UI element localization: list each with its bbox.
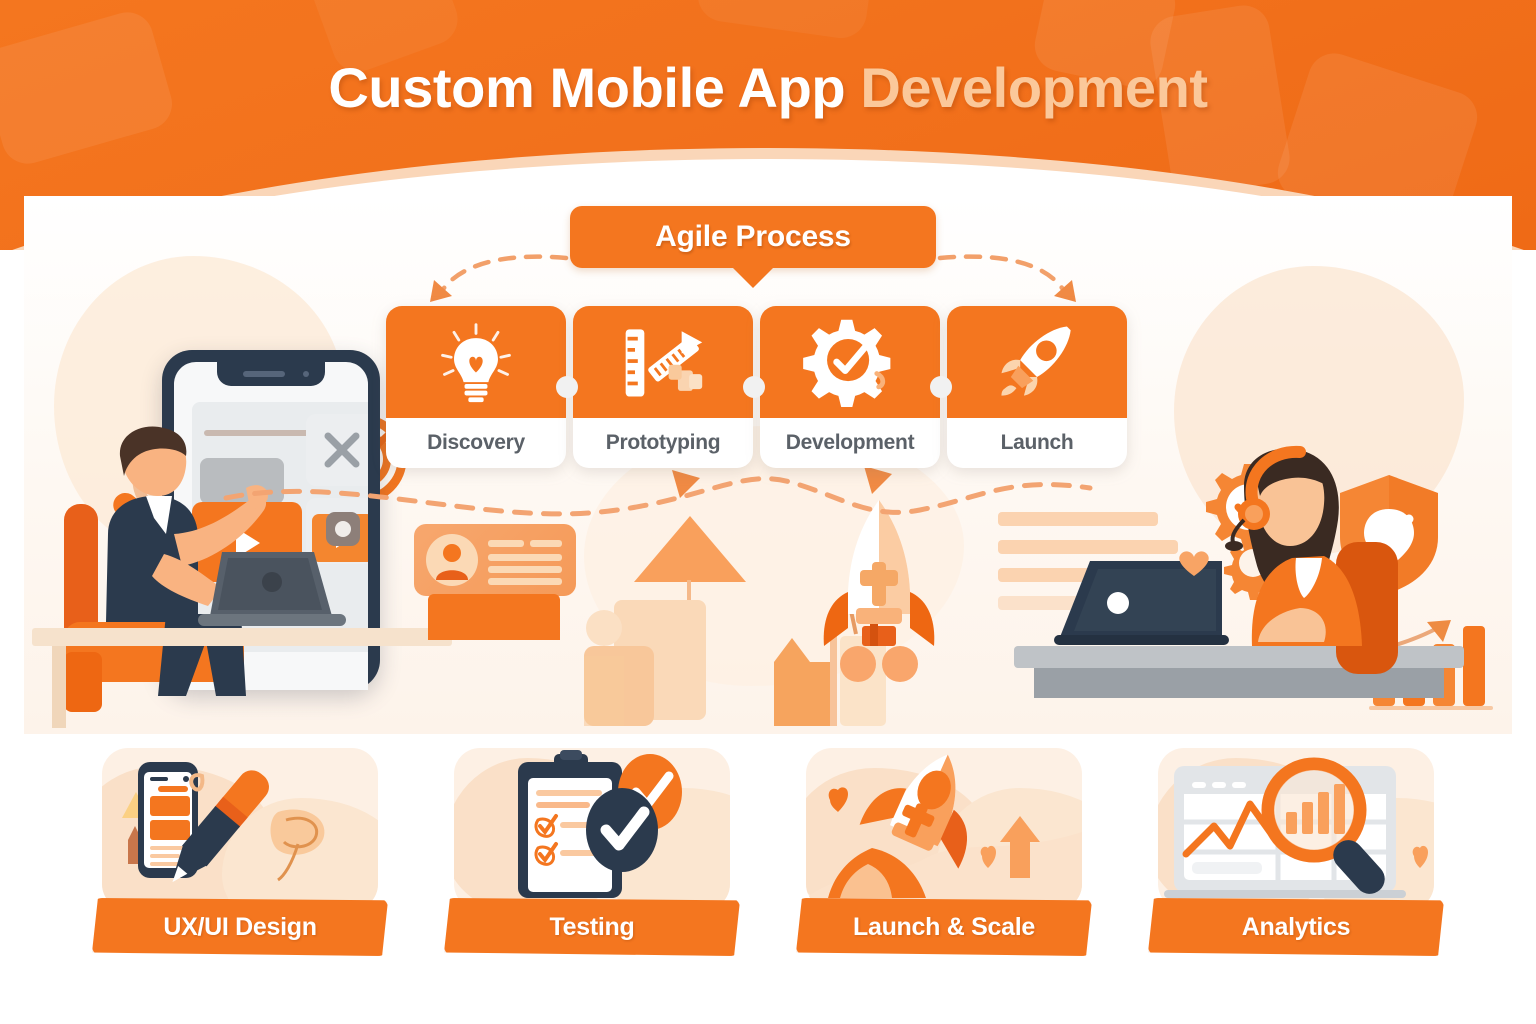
phone-speaker <box>243 371 285 377</box>
infographic-canvas: Custom Mobile App Development <box>0 0 1536 1024</box>
process-card-prototyping[interactable]: Prototyping <box>573 306 753 468</box>
rocket-icon <box>947 314 1127 410</box>
card-label-area: Launch <box>947 418 1127 468</box>
doc-text-line <box>998 512 1158 526</box>
process-card-label: Development <box>786 431 915 455</box>
card-connector-knob <box>930 376 952 398</box>
avatar <box>426 534 478 586</box>
card-label-area: Development <box>760 418 940 468</box>
feature-card-label: UX/UI Design <box>163 913 316 942</box>
feature-card-label: Testing <box>550 913 635 942</box>
phone-camera <box>303 371 309 377</box>
rocket-launch-icon <box>806 748 1082 910</box>
ruler-pencil-icon <box>573 314 753 410</box>
process-card-discovery[interactable]: Discovery <box>386 306 566 468</box>
profile-text-line <box>488 578 562 585</box>
feature-ribbon[interactable]: UX/UI Design <box>92 898 388 956</box>
gear-check-icon <box>760 314 940 410</box>
desk-leg <box>52 646 66 728</box>
process-card-label: Prototyping <box>606 431 721 455</box>
page-title-primary: Custom Mobile App <box>328 56 845 119</box>
developer-at-desk <box>46 426 376 726</box>
process-card-label: Launch <box>1001 431 1074 455</box>
card-connector-knob <box>743 376 765 398</box>
profile-text-line <box>488 554 562 561</box>
feature-card-analytics[interactable]: Analytics <box>1148 748 1444 968</box>
header-decor-shape <box>695 0 876 41</box>
profile-card-stand <box>428 594 560 640</box>
phone-notch <box>217 362 325 386</box>
profile-text-line <box>488 540 524 547</box>
background-rocket <box>814 496 944 686</box>
feature-card-launch-scale[interactable]: Launch & Scale <box>796 748 1092 968</box>
banner-pointer <box>731 266 775 288</box>
clipboard-check-icon <box>454 748 730 910</box>
card-label-area: Discovery <box>386 418 566 468</box>
page-title-secondary: Development <box>860 56 1207 119</box>
process-card-label: Discovery <box>427 431 525 455</box>
feature-ribbon[interactable]: Testing <box>444 898 740 956</box>
feature-card-ux-ui-design[interactable]: UX/UI Design <box>92 748 388 968</box>
feature-ribbon[interactable]: Launch & Scale <box>796 898 1092 956</box>
agile-process-label: Agile Process <box>655 220 851 254</box>
support-agent-with-headset <box>1204 446 1444 706</box>
feature-cards-row: UX/UI Design <box>92 748 1444 968</box>
card-connector-knob <box>556 376 578 398</box>
desk-left <box>32 628 452 646</box>
profile-text-line <box>530 540 562 547</box>
process-cards-row: Discovery <box>386 306 1126 468</box>
lightbulb-icon <box>386 314 566 410</box>
user-profile-card <box>414 524 576 596</box>
process-card-development[interactable]: Development <box>760 306 940 468</box>
heart-accent-icon <box>1176 548 1212 578</box>
page-title: Custom Mobile App Development <box>0 55 1536 120</box>
laptop-magnifier-chart-icon <box>1158 748 1434 910</box>
profile-text-line <box>488 566 562 573</box>
phone-pen-icon <box>102 748 378 910</box>
process-card-launch[interactable]: Launch <box>947 306 1127 468</box>
feature-ribbon[interactable]: Analytics <box>1148 898 1444 956</box>
feature-card-testing[interactable]: Testing <box>444 748 740 968</box>
feature-card-label: Analytics <box>1242 913 1350 942</box>
agile-process-banner[interactable]: Agile Process <box>570 206 936 268</box>
feature-card-label: Launch & Scale <box>853 913 1035 942</box>
card-label-area: Prototyping <box>573 418 753 468</box>
